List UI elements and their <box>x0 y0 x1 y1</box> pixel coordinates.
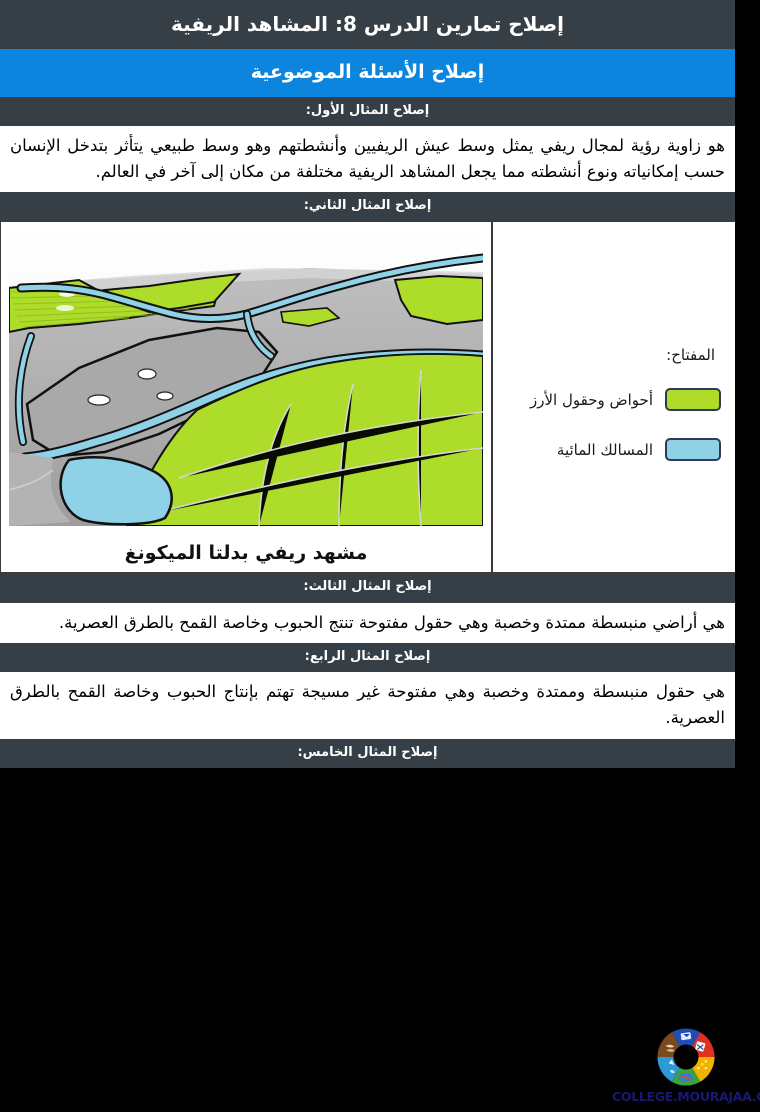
example-heading-5: إصلاح المثال الخامس: <box>0 739 735 768</box>
legend-title: المفتاح: <box>666 346 715 364</box>
map-caption: مشهد ريفي بدلتا الميكونغ <box>1 542 491 564</box>
map-illustration <box>9 228 483 526</box>
example-answer-1: هو زاوية رؤية لمجال ريفي يمثل وسط عيش ال… <box>0 126 735 192</box>
example-heading-1: إصلاح المثال الأول: <box>0 97 735 126</box>
legend-swatch-green <box>665 388 721 411</box>
section-header-objective-questions: إصلاح الأسئلة الموضوعية <box>0 49 735 97</box>
example-heading-3: إصلاح المثال الثالث: <box>0 573 735 602</box>
example-heading-2: إصلاح المثال الثاني: <box>0 192 735 221</box>
legend-item-rice-fields: أحواض وحقول الأرز <box>530 388 721 411</box>
page-title: إصلاح تمارين الدرس 8: المشاهد الريفية <box>0 0 735 49</box>
legend-swatch-blue <box>665 438 721 461</box>
figure-legend: المفتاح: أحواض وحقول الأرز المسالك المائ… <box>492 221 735 573</box>
legend-label-rice-fields: أحواض وحقول الأرز <box>530 391 653 409</box>
site-watermark: COLLEGE.MOURAJAA.COM <box>612 1026 760 1112</box>
map-panel: مشهد ريفي بدلتا الميكونغ <box>0 221 492 573</box>
figure-mekong-delta: المفتاح: أحواض وحقول الأرز المسالك المائ… <box>0 221 735 573</box>
watermark-text: COLLEGE.MOURAJAA.COM <box>612 1089 760 1104</box>
map-svg <box>9 228 483 526</box>
ring-subject-icons <box>666 1032 708 1082</box>
legend-label-waterways: المسالك المائية <box>557 441 653 459</box>
legend-item-waterways: المسالك المائية <box>557 438 721 461</box>
page-root: إصلاح تمارين الدرس 8: المشاهد الريفية إص… <box>0 0 760 1112</box>
example-answer-3: هي أراضي منبسطة ممتدة وخصبة وهي حقول مفت… <box>0 603 735 644</box>
example-answer-4: هي حقول منبسطة وممتدة وخصبة وهي مفتوحة غ… <box>0 672 735 738</box>
example-heading-4: إصلاح المثال الرابع: <box>0 643 735 672</box>
content-column: إصلاح تمارين الدرس 8: المشاهد الريفية إص… <box>0 0 735 768</box>
mourajaa-ring-logo <box>640 1026 732 1088</box>
